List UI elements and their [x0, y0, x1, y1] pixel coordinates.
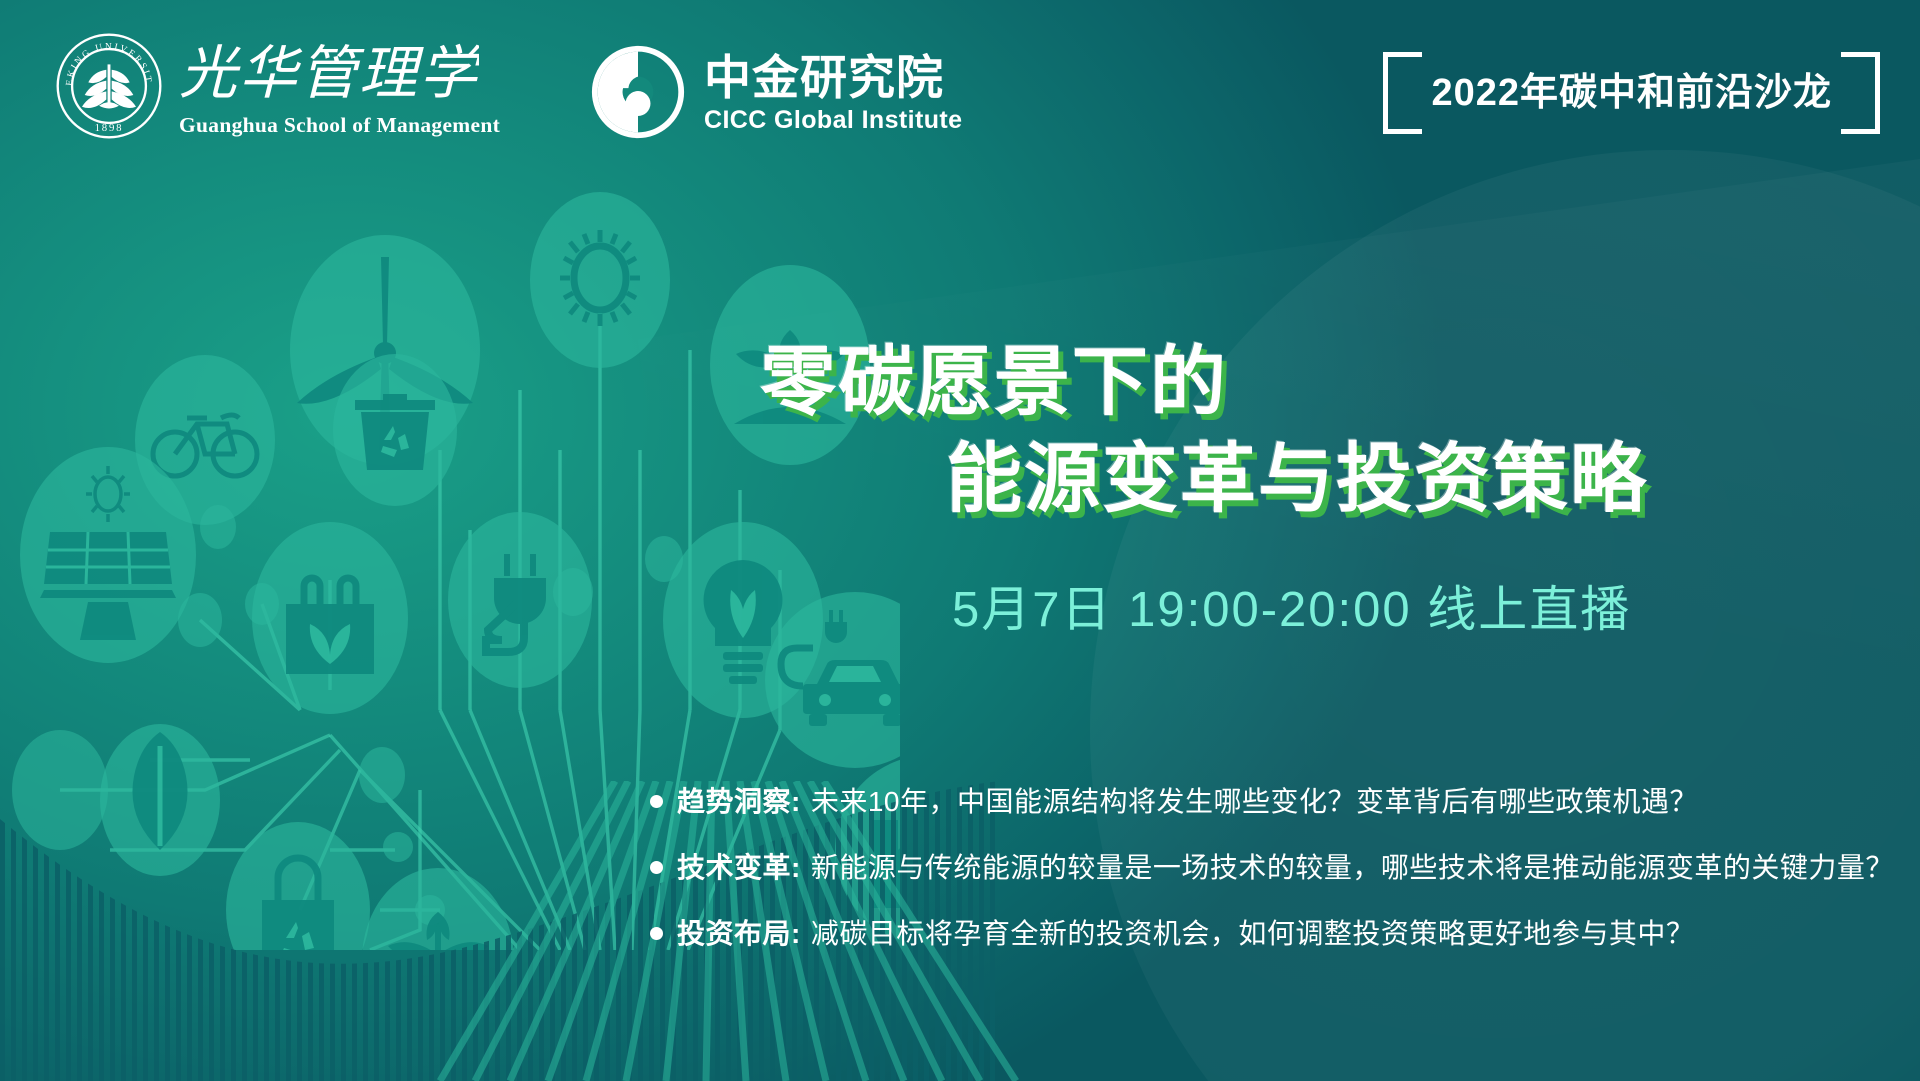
cicc-chinese-name: 中金研究院 [704, 50, 984, 102]
svg-text:光华管理学院: 光华管理学院 [179, 39, 479, 107]
agenda-bullet-item: 趋势洞察: 未来10年，中国能源结构将发生哪些变化？变革背后有哪些政策机遇？ [650, 780, 1880, 820]
cicc-mark-icon [590, 44, 686, 140]
poster-canvas: .blob{fill:#2bb69c;opacity:.62} .smblob{… [0, 0, 1920, 1081]
bullet-label: 技术变革: [677, 846, 801, 886]
agenda-bullet-list: 趋势洞察: 未来10年，中国能源结构将发生哪些变化？变革背后有哪些政策机遇？ 技… [650, 780, 1880, 978]
pku-guanghua-logo: PEKING UNIVERSITY 1898 光华管理学院 [55, 32, 500, 140]
shopping-bag-recycle-icon [252, 522, 408, 714]
guanghua-english-name: Guanghua School of Management [179, 113, 500, 138]
bullet-text: 减碳目标将孕育全新的投资机会，如何调整投资策略更好地参与其中？ [811, 912, 1695, 952]
cicc-logo: 中金研究院 CICC Global Institute [590, 44, 984, 140]
agenda-bullet-item: 技术变革: 新能源与传统能源的较量是一场技术的较量，哪些技术将是推动能源变革的关… [650, 846, 1880, 886]
sun-icon [530, 192, 670, 368]
bullet-dot-icon [650, 927, 663, 940]
recycle-bin-icon [333, 354, 457, 506]
bullet-dot-icon [650, 861, 663, 874]
agenda-bullet-item: 投资布局: 减碳目标将孕育全新的投资机会，如何调整投资策略更好地参与其中？ [650, 912, 1880, 952]
salon-badge: 2022年碳中和前沿沙龙 [1383, 52, 1880, 124]
solar-panel-icon [20, 447, 196, 663]
title-line-2: 能源变革与投资策略 [946, 437, 1870, 522]
bullet-text: 未来10年，中国能源结构将发生哪些变化？变革背后有哪些政策机遇？ [811, 780, 1698, 820]
bullet-text: 新能源与传统能源的较量是一场技术的较量，哪些技术将是推动能源变革的关键力量？ [811, 846, 1894, 886]
event-datetime-subtitle: 5月7日 19:00-20:00 线上直播 [952, 570, 1631, 641]
svg-text:中金研究院: 中金研究院 [704, 51, 944, 102]
cicc-english-name: CICC Global Institute [704, 106, 984, 135]
guanghua-chinese-name: 光华管理学院 [179, 35, 479, 111]
bullet-dot-icon [650, 795, 663, 808]
title-line-1: 零碳愿景下的 [760, 340, 1870, 425]
bullet-label: 投资布局: [677, 912, 801, 952]
main-title-block: 零碳愿景下的 能源变革与投资策略 [760, 340, 1870, 522]
seal-year: 1898 [95, 122, 124, 134]
pku-logo-text: 光华管理学院 Guanghua School of Management [179, 35, 500, 138]
peking-university-seal-icon: PEKING UNIVERSITY 1898 [55, 32, 163, 140]
poster-header: PEKING UNIVERSITY 1898 光华管理学院 [0, 0, 1920, 170]
power-plug-icon [448, 512, 592, 688]
bullet-label: 趋势洞察: [677, 780, 801, 820]
salon-badge-label: 2022年碳中和前沿沙龙 [1409, 61, 1854, 116]
cicc-logo-text: 中金研究院 CICC Global Institute [704, 50, 984, 135]
